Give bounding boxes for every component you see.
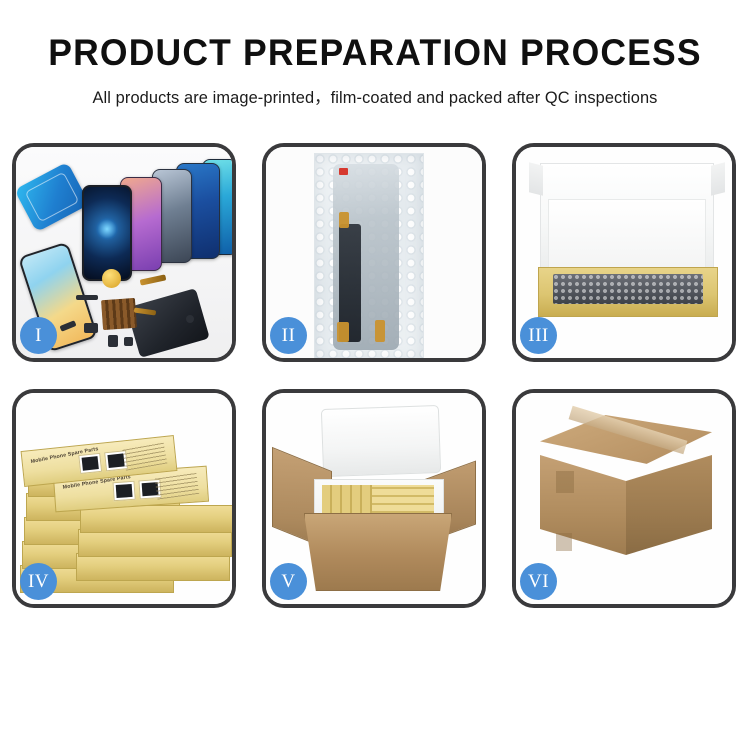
step-badge-6: VI — [520, 563, 557, 600]
step-badge-2: II — [270, 317, 307, 354]
chip-array — [101, 298, 137, 330]
page-header: PRODUCT PREPARATION PROCESS All products… — [0, 0, 750, 108]
gold-box-right-3 — [80, 505, 232, 533]
carton-seam-top — [556, 471, 574, 493]
flex-connector-1 — [339, 212, 349, 228]
speaker-part — [102, 269, 121, 288]
page-subtitle: All products are image-printed，film-coat… — [0, 84, 750, 108]
step-panel-2[interactable]: II — [262, 143, 486, 362]
small-part-2 — [84, 323, 98, 333]
step-panel-6[interactable]: VI — [512, 389, 736, 608]
step-panel-1[interactable]: I — [12, 143, 236, 362]
step-panel-4[interactable]: Mobile Phone Spare Parts Mobile Phone Sp… — [12, 389, 236, 608]
foam-lid-open — [321, 405, 441, 477]
step-badge-5: V — [270, 563, 307, 600]
small-part-4 — [124, 337, 133, 346]
small-part-6 — [186, 315, 194, 323]
step-panel-3[interactable]: III — [512, 143, 736, 362]
process-step-grid: I II III — [12, 143, 738, 608]
step-badge-3: III — [520, 317, 557, 354]
foam-liner — [548, 199, 706, 273]
page-title: PRODUCT PREPARATION PROCESS — [15, 34, 735, 73]
flex-connector-3 — [375, 320, 385, 342]
bubble-wrapped-contents — [553, 274, 703, 304]
gold-box-right-2 — [78, 529, 232, 557]
gold-box-right-1 — [76, 553, 230, 581]
small-part-1 — [76, 295, 98, 300]
gold-inner-tray — [538, 267, 718, 317]
carton-seam-bottom — [556, 533, 572, 551]
flex-connector-2 — [337, 322, 349, 342]
step-badge-1: I — [20, 317, 57, 354]
step-badge-4: IV — [20, 563, 57, 600]
phone-glass-screen — [82, 185, 132, 281]
step-panel-5[interactable]: V — [262, 389, 486, 608]
open-carton-body — [304, 513, 452, 591]
red-label-tag — [339, 168, 348, 175]
small-part-3 — [108, 335, 118, 347]
bubble-wrap-pouch — [314, 153, 424, 358]
